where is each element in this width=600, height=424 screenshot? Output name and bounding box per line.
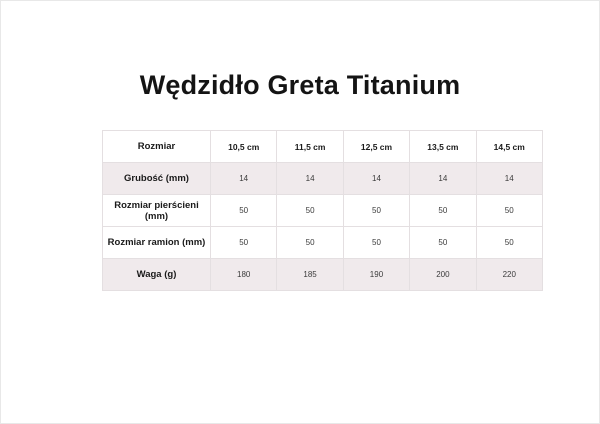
table-header-row: Rozmiar 10,5 cm 11,5 cm 12,5 cm 13,5 cm … bbox=[103, 131, 543, 163]
row-label-weight: Waga (g) bbox=[103, 259, 211, 291]
table-row: Waga (g) 180 185 190 200 220 bbox=[103, 259, 543, 291]
cell-weight-5: 220 bbox=[476, 259, 542, 291]
row-label-ring-size: Rozmiar pierścieni (mm) bbox=[103, 195, 211, 227]
cell-thickness-5: 14 bbox=[476, 163, 542, 195]
cell-thickness-2: 14 bbox=[277, 163, 343, 195]
row-label-arm-size: Rozmiar ramion (mm) bbox=[103, 227, 211, 259]
specification-table-container: Rozmiar 10,5 cm 11,5 cm 12,5 cm 13,5 cm … bbox=[102, 130, 542, 291]
specification-table: Rozmiar 10,5 cm 11,5 cm 12,5 cm 13,5 cm … bbox=[102, 130, 543, 291]
cell-arm-size-3: 50 bbox=[343, 227, 409, 259]
cell-ring-size-1: 50 bbox=[211, 195, 277, 227]
cell-ring-size-3: 50 bbox=[343, 195, 409, 227]
cell-ring-size-5: 50 bbox=[476, 195, 542, 227]
header-cell-size-1: 10,5 cm bbox=[211, 131, 277, 163]
row-label-thickness: Grubość (mm) bbox=[103, 163, 211, 195]
cell-arm-size-2: 50 bbox=[277, 227, 343, 259]
cell-weight-2: 185 bbox=[277, 259, 343, 291]
header-cell-size-2: 11,5 cm bbox=[277, 131, 343, 163]
header-cell-size-3: 12,5 cm bbox=[343, 131, 409, 163]
cell-ring-size-2: 50 bbox=[277, 195, 343, 227]
header-cell-size-5: 14,5 cm bbox=[476, 131, 542, 163]
cell-weight-1: 180 bbox=[211, 259, 277, 291]
product-spec-page: Wędzidło Greta Titanium Rozmiar 10,5 cm … bbox=[1, 1, 599, 423]
cell-weight-3: 190 bbox=[343, 259, 409, 291]
cell-thickness-3: 14 bbox=[343, 163, 409, 195]
header-cell-row-label: Rozmiar bbox=[103, 131, 211, 163]
cell-thickness-1: 14 bbox=[211, 163, 277, 195]
table-header: Rozmiar 10,5 cm 11,5 cm 12,5 cm 13,5 cm … bbox=[103, 131, 543, 163]
page-title: Wędzidło Greta Titanium bbox=[1, 69, 599, 101]
table-row: Rozmiar pierścieni (mm) 50 50 50 50 50 bbox=[103, 195, 543, 227]
cell-arm-size-4: 50 bbox=[410, 227, 476, 259]
table-row: Grubość (mm) 14 14 14 14 14 bbox=[103, 163, 543, 195]
cell-arm-size-5: 50 bbox=[476, 227, 542, 259]
cell-thickness-4: 14 bbox=[410, 163, 476, 195]
cell-weight-4: 200 bbox=[410, 259, 476, 291]
table-row: Rozmiar ramion (mm) 50 50 50 50 50 bbox=[103, 227, 543, 259]
table-body: Grubość (mm) 14 14 14 14 14 Rozmiar pier… bbox=[103, 163, 543, 291]
header-cell-size-4: 13,5 cm bbox=[410, 131, 476, 163]
cell-ring-size-4: 50 bbox=[410, 195, 476, 227]
cell-arm-size-1: 50 bbox=[211, 227, 277, 259]
